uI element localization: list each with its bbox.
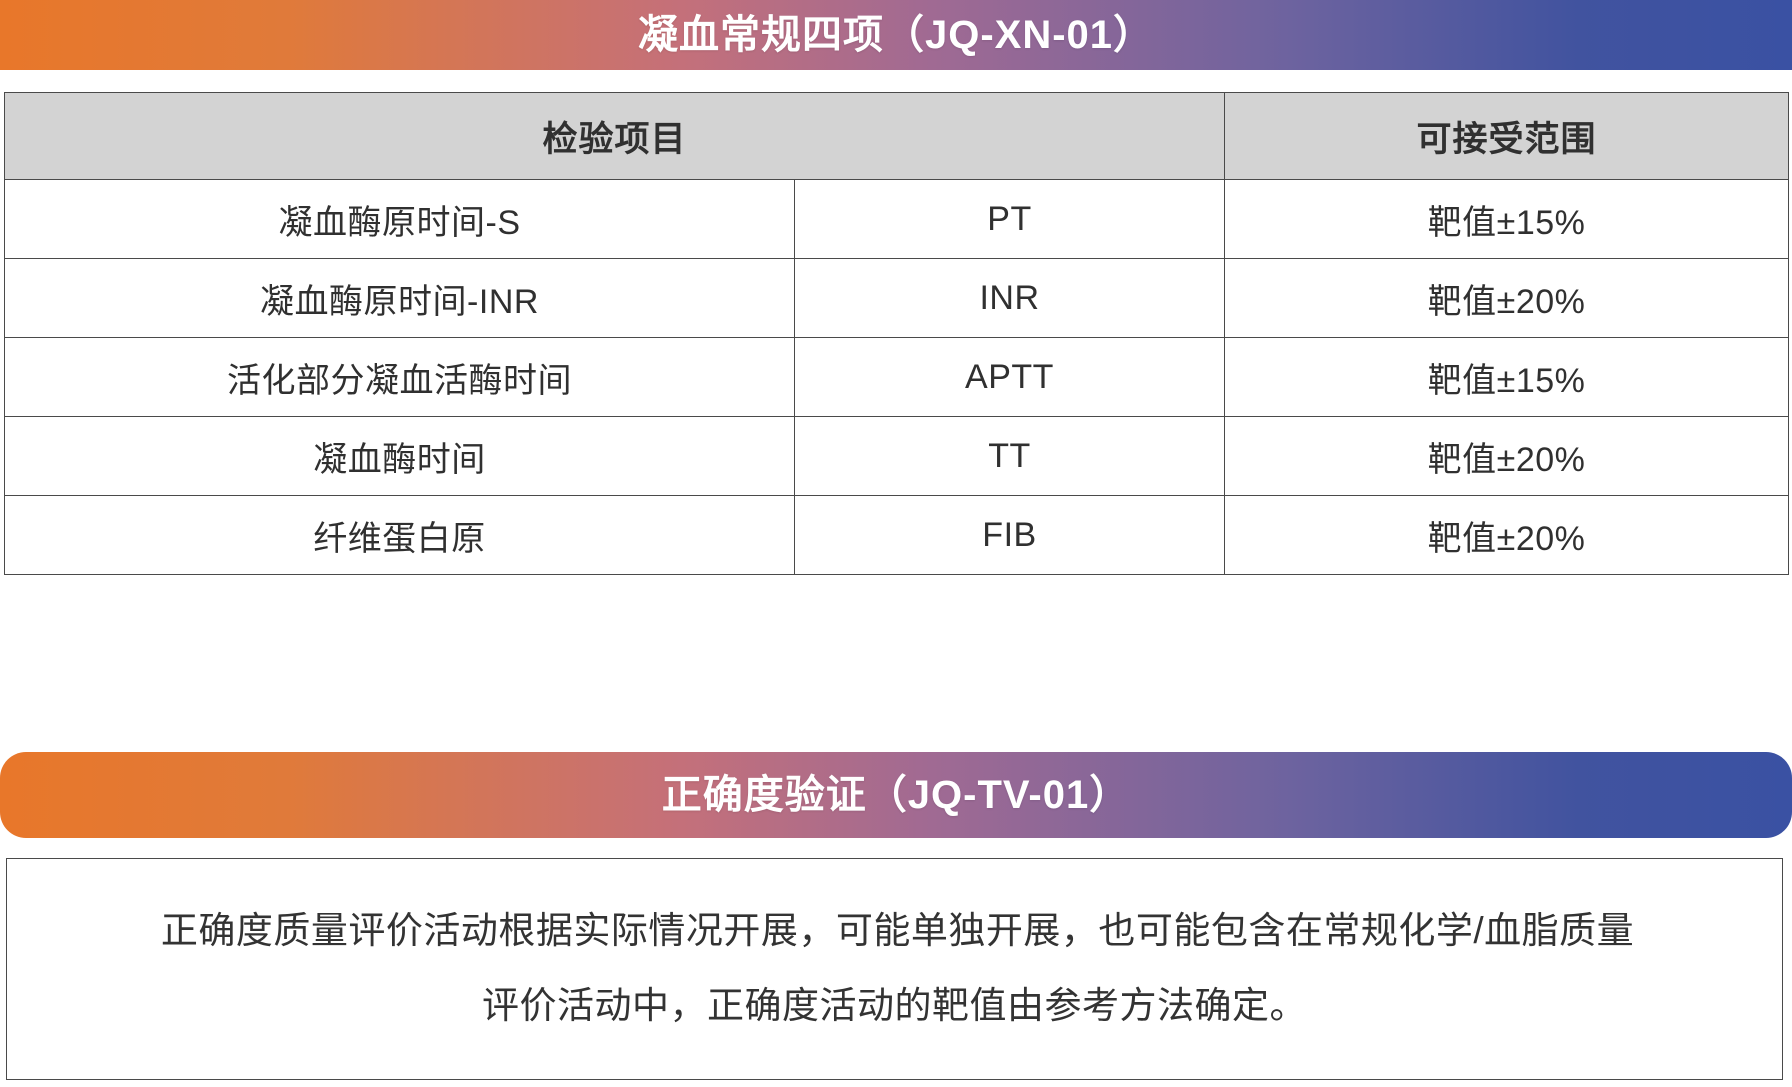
accuracy-note-line-2: 评价活动中，正确度活动的靶值由参考方法确定。 [482,987,1307,1026]
cell-test-name: 活化部分凝血活酶时间 [5,338,795,417]
cell-test-abbr: TT [795,417,1225,496]
cell-test-name: 凝血酶原时间-S [5,180,795,259]
cell-test-range: 靶值±15% [1225,180,1789,259]
banner-accuracy-panel: 正确度验证（JQ-TV-01） [0,752,1792,838]
table-row: 活化部分凝血活酶时间 APTT 靶值±15% [5,338,1789,417]
table-row: 凝血酶原时间-S PT 靶值±15% [5,180,1789,259]
cell-test-range: 靶值±15% [1225,338,1789,417]
column-header-test-item: 检验项目 [5,93,1225,180]
cell-test-abbr: PT [795,180,1225,259]
cell-test-range: 靶值±20% [1225,496,1789,575]
table-row: 纤维蛋白原 FIB 靶值±20% [5,496,1789,575]
cell-test-abbr: FIB [795,496,1225,575]
cell-test-range: 靶值±20% [1225,417,1789,496]
table-header-row: 检验项目 可接受范围 [5,93,1789,180]
accuracy-note-line-1: 正确度质量评价活动根据实际情况开展，可能单独开展，也可能包含在常规化学/血脂质量 [155,912,1634,951]
column-header-acceptable-range: 可接受范围 [1225,93,1789,180]
cell-test-abbr: INR [795,259,1225,338]
banner-coagulation-panel: 凝血常规四项（JQ-XN-01） [0,0,1792,70]
table-body: 凝血酶原时间-S PT 靶值±15% 凝血酶原时间-INR INR 靶值±20%… [5,180,1789,575]
table-row: 凝血酶时间 TT 靶值±20% [5,417,1789,496]
test-items-table-container: 检验项目 可接受范围 凝血酶原时间-S PT 靶值±15% 凝血酶原时间-INR… [4,92,1788,575]
cell-test-abbr: APTT [795,338,1225,417]
cell-test-name: 凝血酶原时间-INR [5,259,795,338]
cell-test-range: 靶值±20% [1225,259,1789,338]
cell-test-name: 凝血酶时间 [5,417,795,496]
table-row: 凝血酶原时间-INR INR 靶值±20% [5,259,1789,338]
test-items-table: 检验项目 可接受范围 凝血酶原时间-S PT 靶值±15% 凝血酶原时间-INR… [4,92,1789,575]
accuracy-note-box: 正确度质量评价活动根据实际情况开展，可能单独开展，也可能包含在常规化学/血脂质量… [6,858,1783,1080]
banner-accuracy-title: 正确度验证（JQ-TV-01） [662,775,1130,815]
cell-test-name: 纤维蛋白原 [5,496,795,575]
banner-coagulation-title: 凝血常规四项（JQ-XN-01） [638,15,1154,55]
